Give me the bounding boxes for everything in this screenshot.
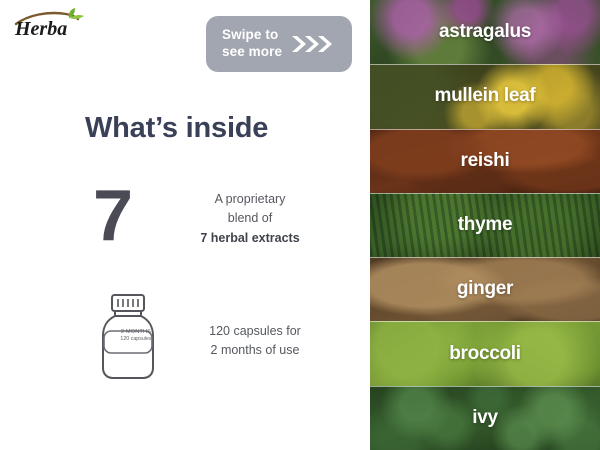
herb-label-broccoli: broccoli — [449, 343, 521, 365]
herba-logo[interactable]: Herba — [14, 8, 92, 38]
extract-count-number: 7 — [93, 180, 131, 252]
strip-divider — [370, 193, 600, 194]
herb-label-astragalus: astragalus — [439, 21, 531, 43]
capsule-caption-line-1: 120 capsules for — [209, 324, 301, 338]
herb-strip-mullein-leaf[interactable]: mullein leaf — [370, 64, 600, 128]
strip-divider — [370, 257, 600, 258]
logo-wordmark: Herba — [14, 18, 67, 38]
logo-graphic: Herba — [14, 8, 92, 38]
herb-strip-broccoli[interactable]: broccoli — [370, 321, 600, 385]
swipe-to-see-more-button[interactable]: Swipe to see more — [206, 16, 352, 72]
strip-divider — [370, 64, 600, 65]
strip-divider — [370, 386, 600, 387]
product-ingredients-slide: Herba Swipe to see more What’s inside 7 … — [0, 0, 600, 450]
capsule-caption: 120 capsules for 2 months of use — [180, 322, 330, 361]
herb-strip-reishi[interactable]: reishi — [370, 129, 600, 193]
herb-image-list: astragalus mullein leaf reishi thyme gin… — [370, 0, 600, 450]
blend-description: A proprietary blend of 7 herbal extracts — [180, 190, 320, 248]
supplement-bottle-icon-graphic — [93, 292, 163, 382]
herb-strip-ginger[interactable]: ginger — [370, 257, 600, 321]
herb-label-thyme: thyme — [458, 214, 512, 236]
blend-info-row: 7 A proprietary blend of 7 herbal extrac… — [85, 184, 320, 254]
herb-strip-astragalus[interactable]: astragalus — [370, 0, 600, 64]
herb-strip-thyme[interactable]: thyme — [370, 193, 600, 257]
herb-strip-ivy[interactable]: ivy — [370, 386, 600, 450]
bottle-info-row: 2 MONTHS 120 capsules 120 capsules for 2… — [85, 292, 335, 384]
blend-line-2: blend of — [228, 211, 272, 225]
chevron-right-icon — [290, 33, 334, 55]
strip-divider — [370, 129, 600, 130]
blend-line-3: 7 herbal extracts — [200, 231, 299, 245]
herb-label-mullein-leaf: mullein leaf — [435, 85, 536, 107]
herb-label-ivy: ivy — [472, 407, 498, 429]
page-title: What’s inside — [85, 112, 268, 145]
blend-line-1: A proprietary — [215, 192, 286, 206]
herb-label-ginger: ginger — [457, 278, 513, 300]
left-content-panel: Herba Swipe to see more What’s inside 7 … — [0, 0, 370, 450]
chevron-right-icon-graphic — [290, 33, 334, 55]
swipe-button-label: Swipe to see more — [222, 27, 282, 61]
capsule-caption-line-2: 2 months of use — [211, 343, 300, 357]
supplement-bottle-icon: 2 MONTHS 120 capsules — [93, 292, 163, 382]
herb-label-reishi: reishi — [461, 150, 510, 172]
strip-divider — [370, 321, 600, 322]
